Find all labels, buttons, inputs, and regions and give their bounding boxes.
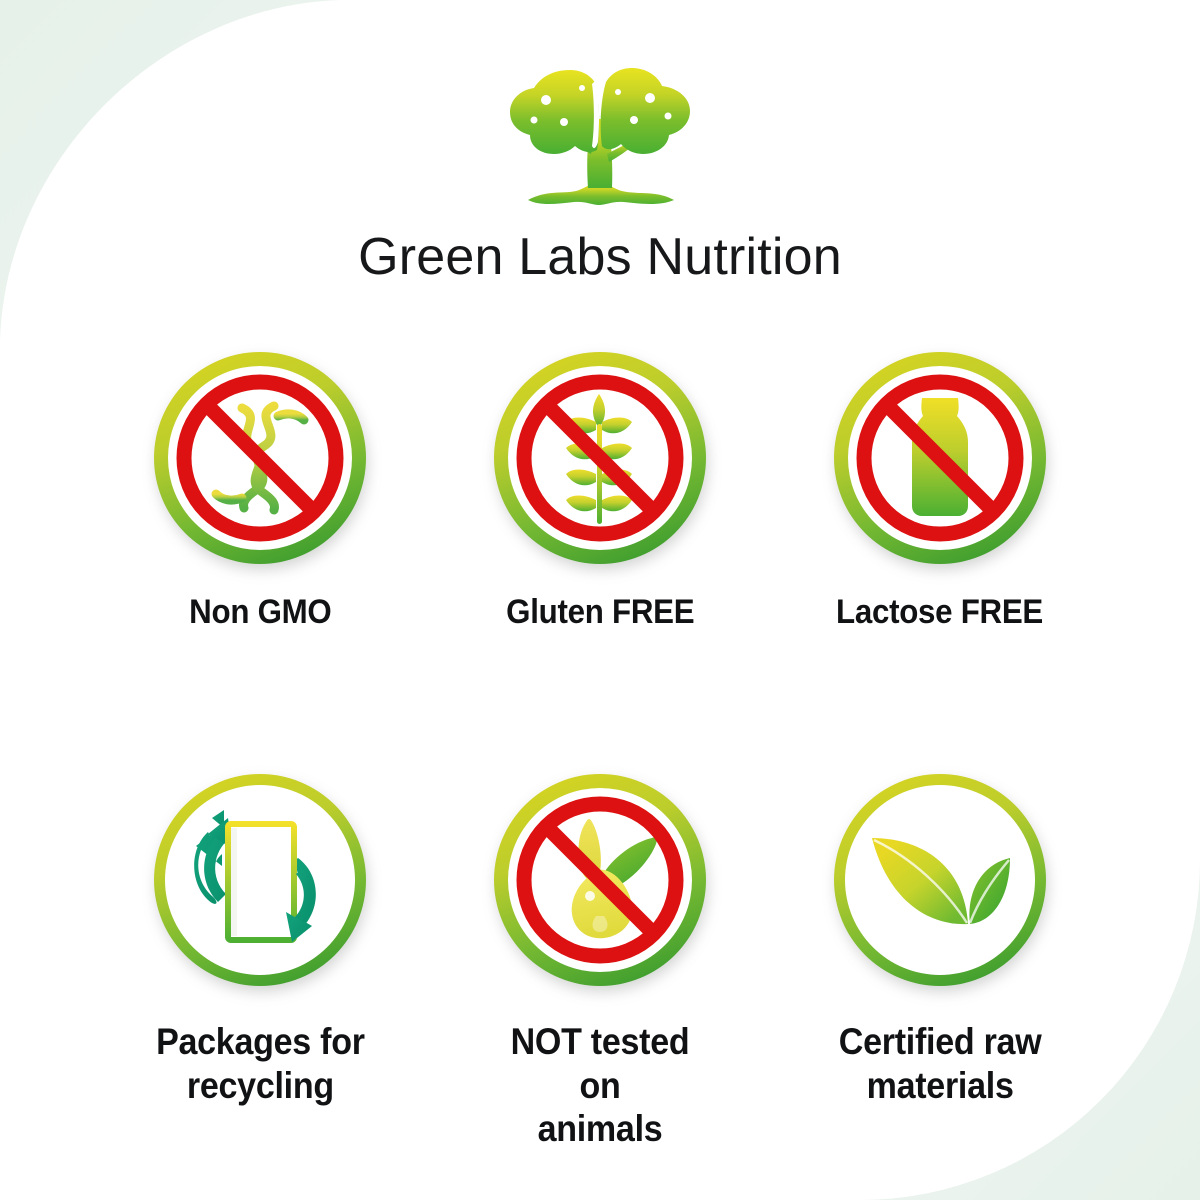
badge-label: Certified raw materials bbox=[839, 1020, 1042, 1107]
badge-cell-certified-raw-materials[interactable]: Certified raw materials bbox=[825, 772, 1055, 1107]
badge-cell-non-gmo[interactable]: Non GMO bbox=[145, 350, 375, 632]
recycling-arrows-icon bbox=[152, 772, 368, 988]
badge-gluten-free[interactable] bbox=[492, 350, 708, 566]
badge-lactose-free[interactable] bbox=[832, 350, 1048, 566]
badge-packages-for-recycling[interactable] bbox=[152, 772, 368, 988]
badge-cell-gluten-free[interactable]: Gluten FREE bbox=[485, 350, 715, 632]
certification-badge-grid: Non GMO bbox=[0, 350, 1200, 1151]
badge-not-tested-on-animals[interactable] bbox=[492, 772, 708, 988]
badge-label: Lactose FREE bbox=[836, 592, 1043, 632]
rabbit-head-icon bbox=[492, 772, 708, 988]
badge-non-gmo[interactable] bbox=[152, 350, 368, 566]
tree-logo-icon bbox=[500, 62, 700, 222]
badge-label: Gluten FREE bbox=[506, 592, 694, 632]
badge-label: NOT tested on animals bbox=[494, 1020, 706, 1151]
badge-row-1: Non GMO bbox=[0, 350, 1200, 632]
dna-helix-icon bbox=[152, 350, 368, 566]
badge-label: Packages for recycling bbox=[156, 1020, 365, 1107]
milk-bottle-icon bbox=[832, 350, 1048, 566]
brand-header: Green Labs Nutrition bbox=[0, 62, 1200, 285]
infographic-canvas: Green Labs Nutrition bbox=[0, 0, 1200, 1200]
two-leaves-icon bbox=[832, 772, 1048, 988]
badge-certified-raw-materials[interactable] bbox=[832, 772, 1048, 988]
badge-cell-packages-for-recycling[interactable]: Packages for recycling bbox=[145, 772, 375, 1107]
badge-label: Non GMO bbox=[189, 592, 331, 632]
page-title: Green Labs Nutrition bbox=[0, 230, 1200, 285]
badge-cell-lactose-free[interactable]: Lactose FREE bbox=[825, 350, 1055, 632]
badge-cell-not-tested-on-animals[interactable]: NOT tested on animals bbox=[485, 772, 715, 1151]
wheat-stalk-icon bbox=[492, 350, 708, 566]
badge-row-2: Packages for recycling bbox=[0, 772, 1200, 1151]
